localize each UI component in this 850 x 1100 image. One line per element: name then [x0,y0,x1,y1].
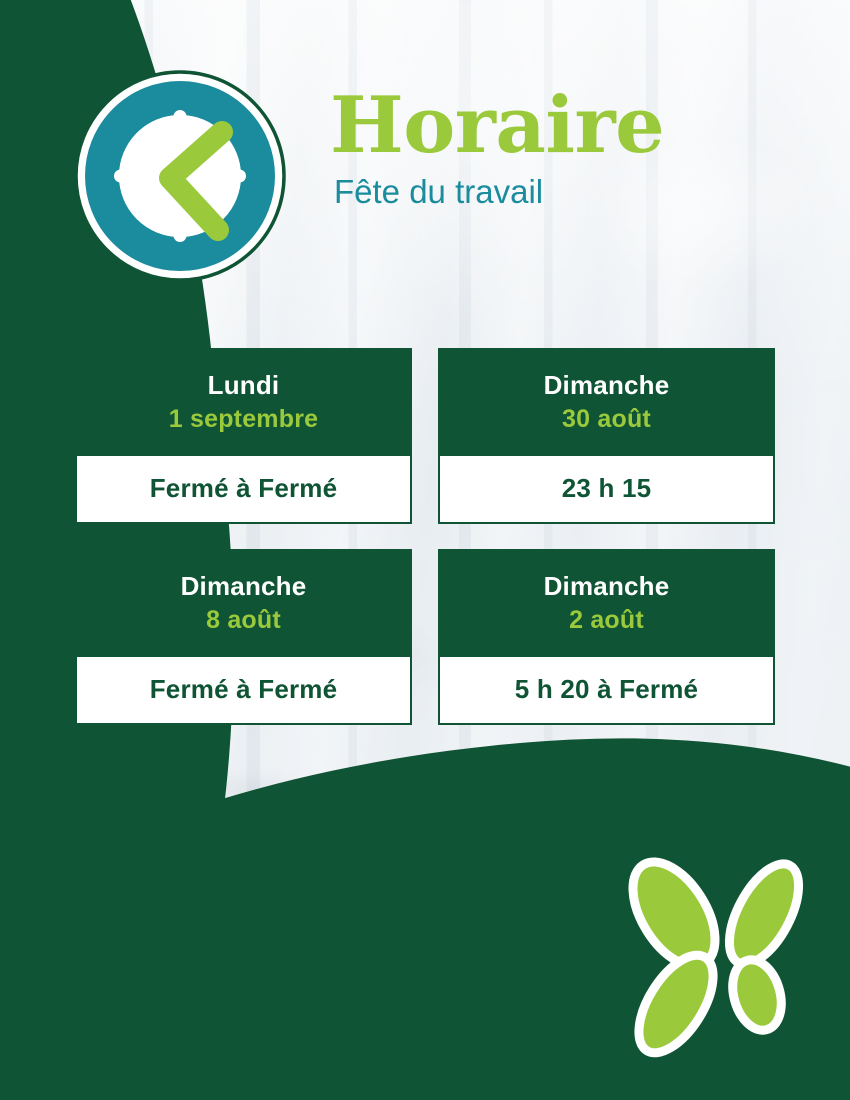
schedule-card-day: Lundi [89,370,398,401]
schedule-card-body: 5 h 20 à Fermé [440,657,773,723]
schedule-card[interactable]: Dimanche 2 août 5 h 20 à Fermé [438,549,775,725]
butterfly-logo-icon [612,852,827,1067]
poster-header: Horaire Fête du travail [0,0,850,300]
schedule-card-date: 1 septembre [89,403,398,436]
schedule-card[interactable]: Lundi 1 septembre Fermé à Fermé [75,348,412,524]
clock-icon [74,70,286,282]
schedule-card-body: 23 h 15 [440,456,773,522]
schedule-card-body: Fermé à Fermé [77,456,410,522]
schedule-card-body: Fermé à Fermé [77,657,410,723]
schedule-cards-grid: Lundi 1 septembre Fermé à Fermé Dimanche… [75,348,775,725]
schedule-card-header: Dimanche 8 août [77,551,410,657]
schedule-card-header: Dimanche 30 août [440,350,773,456]
schedule-card-date: 2 août [452,604,761,637]
page-subtitle: Fête du travail [334,174,810,210]
schedule-card-day: Dimanche [452,370,761,401]
schedule-card-header: Lundi 1 septembre [77,350,410,456]
schedule-card-date: 8 août [89,604,398,637]
schedule-card-hours: 23 h 15 [450,473,763,504]
schedule-card-day: Dimanche [89,571,398,602]
title-block: Horaire Fête du travail [330,88,810,211]
schedule-card-hours: 5 h 20 à Fermé [450,674,763,705]
schedule-card-hours: Fermé à Fermé [87,674,400,705]
schedule-card[interactable]: Dimanche 30 août 23 h 15 [438,348,775,524]
schedule-card-header: Dimanche 2 août [440,551,773,657]
schedule-poster: Horaire Fête du travail Lundi 1 septembr… [0,0,850,1100]
page-title: Horaire [330,88,810,164]
schedule-card-date: 30 août [452,403,761,436]
schedule-card-hours: Fermé à Fermé [87,473,400,504]
schedule-card-day: Dimanche [452,571,761,602]
schedule-card[interactable]: Dimanche 8 août Fermé à Fermé [75,549,412,725]
